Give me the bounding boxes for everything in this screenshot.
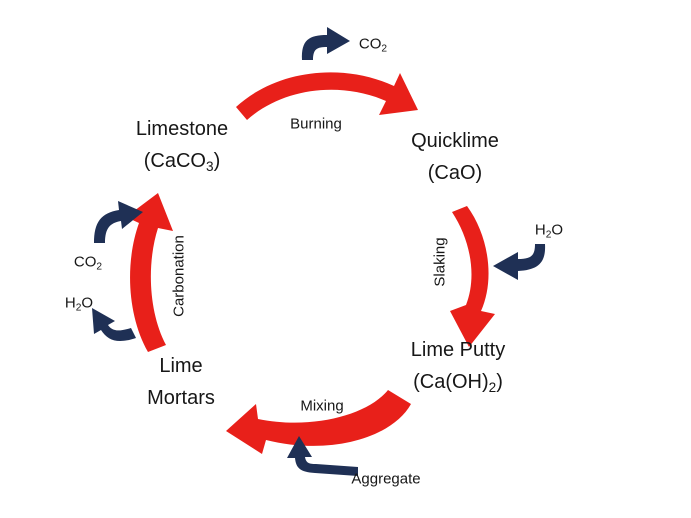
flow-label-h2o-in: H2O [535,221,563,238]
red-arrow-slaking [450,206,495,347]
node-lime-mortars-line2: Mortars [147,387,215,410]
process-label-carbonation: Carbonation [170,235,187,317]
red-arrow-burning [236,72,418,120]
process-label-slaking: Slaking [431,237,448,286]
navy-arrow-h2o-out [92,308,136,341]
flow-label-co2-in: CO2 [74,253,102,270]
node-lime-putty-formula: (Ca(OH)2) [411,371,505,394]
process-label-mixing: Mixing [300,397,343,414]
node-lime-putty: Lime Putty (Ca(OH)2) [411,339,505,394]
node-lime-putty-name: Lime Putty [411,339,505,362]
node-quicklime-formula: (CaO) [411,162,499,185]
cycle-arrows-canvas [0,0,691,518]
flow-label-h2o-out: H2O [65,294,93,311]
lime-cycle-diagram: Limestone (CaCO3) Quicklime (CaO) Lime P… [0,0,691,518]
process-label-burning: Burning [290,115,342,132]
node-limestone: Limestone (CaCO3) [136,118,228,173]
navy-arrow-h2o-in [493,244,545,280]
node-limestone-formula: (CaCO3) [136,150,228,173]
flow-label-co2-out: CO2 [359,35,387,52]
flow-label-aggregate-in: Aggregate [351,470,420,487]
node-quicklime: Quicklime (CaO) [411,130,499,185]
node-quicklime-name: Quicklime [411,130,499,153]
navy-arrow-co2-out [302,27,350,60]
node-limestone-name: Limestone [136,118,228,141]
node-lime-mortars: Lime Mortars [147,355,215,410]
node-lime-mortars-line1: Lime [147,355,215,378]
